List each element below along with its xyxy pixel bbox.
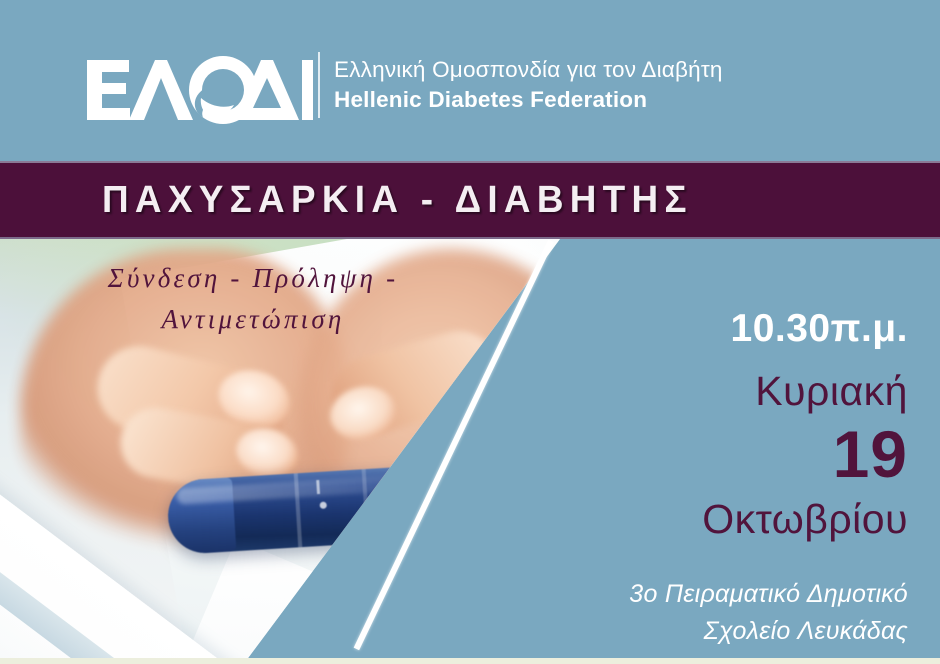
lancing-device-icon bbox=[166, 465, 440, 555]
elodi-logo bbox=[83, 52, 313, 128]
event-day-number: 19 bbox=[488, 419, 908, 489]
poster-title: ΠΑΧΥΣΑΡΚΙΑ - ΔΙΑΒΗΤΗΣ bbox=[102, 179, 693, 222]
venue-line-2: Σχολείο Λευκάδας bbox=[448, 613, 908, 650]
venue-line-1: 3ο Πειραματικό Δημοτικό bbox=[448, 576, 908, 613]
bottom-strip bbox=[0, 658, 940, 664]
lancing-device-dot bbox=[320, 502, 327, 509]
federation-name-english: Hellenic Diabetes Federation bbox=[334, 85, 894, 115]
poster-header: Ελληνική Ομοσπονδία για τον Διαβήτη Hell… bbox=[0, 0, 940, 161]
event-day-name: Κυριακή bbox=[488, 363, 908, 419]
logo-divider bbox=[318, 52, 320, 118]
poster-subtitle: Σύνδεση - Πρόληψη - Αντιμετώπιση bbox=[58, 258, 448, 340]
subtitle-line-2: Αντιμετώπιση bbox=[58, 299, 448, 340]
event-month: Οκτωβρίου bbox=[488, 491, 908, 547]
event-venue: 3ο Πειραματικό Δημοτικό Σχολείο Λευκάδας bbox=[448, 576, 908, 650]
elodi-logo-icon bbox=[83, 52, 313, 128]
subtitle-line-1: Σύνδεση - Πρόληψη - bbox=[58, 258, 448, 299]
federation-names: Ελληνική Ομοσπονδία για τον Διαβήτη Hell… bbox=[334, 55, 894, 115]
event-poster: Ελληνική Ομοσπονδία για τον Διαβήτη Hell… bbox=[0, 0, 940, 664]
event-time: 10.30π.μ. bbox=[488, 305, 908, 353]
title-bar: ΠΑΧΥΣΑΡΚΙΑ - ΔΙΑΒΗΤΗΣ bbox=[0, 161, 940, 239]
federation-name-greek: Ελληνική Ομοσπονδία για τον Διαβήτη bbox=[334, 55, 894, 85]
event-details: 10.30π.μ. Κυριακή 19 Οκτωβρίου bbox=[488, 305, 908, 547]
